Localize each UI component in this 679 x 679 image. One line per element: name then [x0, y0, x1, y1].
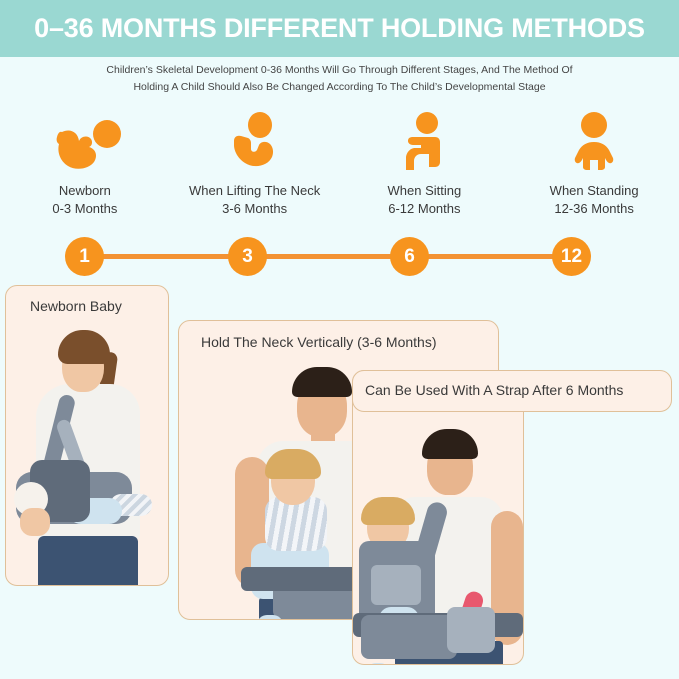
stage-name: When Lifting The Neck [189, 182, 320, 200]
baby-lying-icon [48, 112, 122, 174]
stage-item-standing: When Standing 12-36 Months [509, 112, 679, 222]
photo-card-newborn: Newborn Baby [5, 285, 169, 586]
stage-age: 3-6 Months [189, 200, 320, 218]
stage-age: 6-12 Months [388, 200, 462, 218]
stage-item-lifting-neck: When Lifting The Neck 3-6 Months [170, 112, 340, 222]
subtitle: Children’s Skeletal Development 0-36 Mon… [0, 62, 679, 96]
stage-item-sitting: When Sitting 6-12 Months [340, 112, 510, 222]
photo-part-jeans [38, 536, 138, 586]
stage-label-standing: When Standing 12-36 Months [550, 182, 639, 218]
photo-part-hip-seat [361, 615, 457, 659]
photo-part-side-pocket [447, 607, 495, 653]
timeline-node-3: 3 [229, 238, 266, 275]
timeline-rail [84, 254, 572, 259]
photo-part-carrier-pocket [371, 565, 421, 605]
photo-part-hair [292, 367, 352, 397]
photo-card-title: Can Be Used With A Strap After 6 Months [365, 382, 623, 398]
photo-part-baby-shirt [265, 497, 327, 551]
page-title: 0–36 MONTHS DIFFERENT HOLDING METHODS [34, 13, 645, 44]
timeline-node-1: 1 [66, 238, 103, 275]
timeline-node-12: 12 [553, 238, 590, 275]
subtitle-line-1: Children’s Skeletal Development 0-36 Mon… [0, 62, 679, 79]
stage-list: Newborn 0-3 Months When Lifting The Neck… [0, 112, 679, 222]
photo-part-baby-foot [367, 663, 389, 665]
photo-card-title: Hold The Neck Vertically (3-6 Months) [201, 334, 437, 350]
header-band: 0–36 MONTHS DIFFERENT HOLDING METHODS [0, 0, 679, 57]
photo-card-strap-label: Can Be Used With A Strap After 6 Months [352, 370, 672, 412]
photo-part-hair [422, 429, 478, 459]
photo-part-baby-hair [265, 449, 321, 479]
photo-part-hand [20, 508, 50, 536]
stage-name: When Sitting [388, 182, 462, 200]
stage-age: 12-36 Months [550, 200, 639, 218]
stage-age: 0-3 Months [52, 200, 117, 218]
stage-label-sitting: When Sitting 6-12 Months [388, 182, 462, 218]
photo-part-hair [58, 330, 110, 364]
age-timeline: 1 3 6 12 [66, 238, 590, 276]
baby-head-up-icon [224, 112, 286, 174]
baby-sitting-icon [399, 112, 449, 174]
stage-name: When Standing [550, 182, 639, 200]
baby-standing-icon [567, 112, 621, 174]
photo-card-title: Newborn Baby [30, 298, 122, 314]
subtitle-line-2: Holding A Child Should Also Be Changed A… [0, 79, 679, 96]
photo-card-strap [352, 370, 524, 665]
stage-name: Newborn [52, 182, 117, 200]
stage-label-newborn: Newborn 0-3 Months [52, 182, 117, 218]
photo-strap-carry [353, 419, 523, 665]
stage-item-newborn: Newborn 0-3 Months [0, 112, 170, 222]
stage-label-lifting-neck: When Lifting The Neck 3-6 Months [189, 182, 320, 218]
timeline-node-6: 6 [391, 238, 428, 275]
photo-newborn-carry [6, 322, 168, 586]
photo-part-baby-hair [361, 497, 415, 525]
